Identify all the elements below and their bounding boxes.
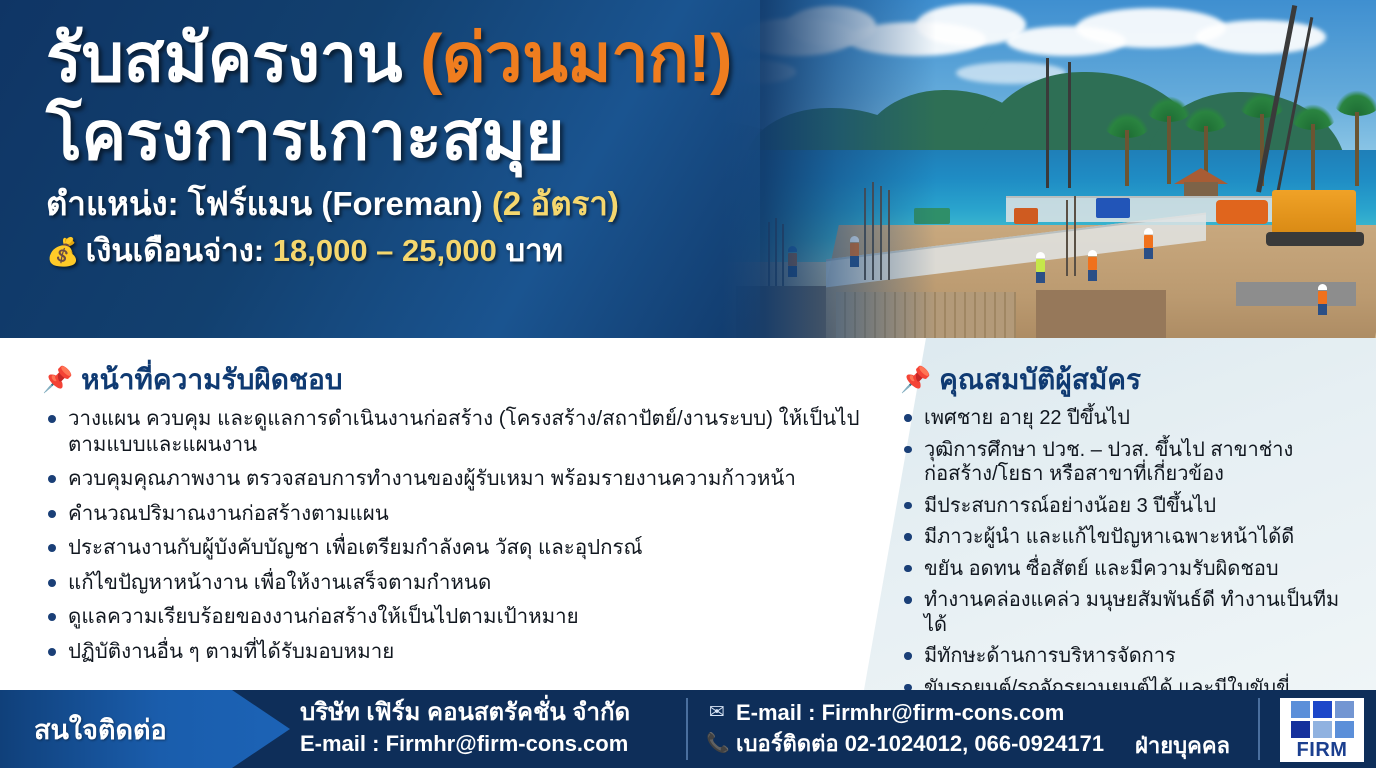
- poster-header: รับสมัครงาน (ด่วนมาก!) โครงการเกาะสมุย ต…: [0, 0, 1376, 338]
- site-vehicle: [1014, 208, 1038, 224]
- list-item: แก้ไขปัญหาหน้างาน เพื่อให้งานเสร็จตามกำห…: [42, 570, 872, 596]
- salary-label: เงินเดือนจ่าง:: [86, 233, 265, 268]
- crane-tracks: [1266, 232, 1364, 246]
- list-item: คำนวณปริมาณงานก่อสร้างตามแผน: [42, 501, 872, 527]
- phone-row[interactable]: 📞 เบอร์ติดต่อ 02-1024012, 066-0924171: [706, 728, 1104, 759]
- phone-text: เบอร์ติดต่อ 02-1024012, 066-0924171: [736, 728, 1104, 759]
- title-urgent-badge: (ด่วนมาก!): [420, 21, 732, 96]
- crane-body: [1272, 190, 1356, 234]
- poster-title-line-1: รับสมัครงาน (ด่วนมาก!): [46, 20, 866, 98]
- list-item: ดูแลความเรียบร้อยของงานก่อสร้างให้เป็นไป…: [42, 604, 872, 630]
- list-item: ประสานงานกับผู้บังคับบัญชา เพื่อเตรียมกำ…: [42, 535, 872, 561]
- logo-tile: [1335, 701, 1354, 718]
- cable: [1068, 62, 1071, 188]
- poster-title-line-2: โครงการเกาะสมุย: [46, 98, 866, 176]
- firm-logo: FIRM: [1280, 698, 1364, 762]
- salary-line: 💰เงินเดือนจ่าง: 18,000 – 25,000 บาท: [46, 230, 866, 273]
- logo-tile: [1291, 721, 1310, 738]
- footer-divider-2: [1258, 698, 1260, 760]
- qualifications-heading: 📌 คุณสมบัติผู้สมัคร: [900, 338, 1350, 406]
- title-main: รับสมัครงาน: [46, 21, 402, 96]
- email-row[interactable]: ✉ E-mail : Firmhr@firm-cons.com: [706, 697, 1104, 728]
- list-item: เพศชาย อายุ 22 ปีขึ้นไป: [900, 406, 1350, 431]
- contact-details: ✉ E-mail : Firmhr@firm-cons.com 📞 เบอร์ต…: [706, 697, 1104, 759]
- qualifications-column: 📌 คุณสมบัติผู้สมัคร เพศชาย อายุ 22 ปีขึ้…: [900, 338, 1350, 690]
- poster-footer: สนใจติดต่อ บริษัท เฟิร์ม คอนสตรัคชั่น จำ…: [0, 690, 1376, 768]
- salary-unit: บาท: [505, 233, 563, 268]
- pushpin-icon: 📌: [42, 368, 73, 393]
- list-item: มีภาวะผู้นำ และแก้ไขปัญหาเฉพาะหน้าได้ดี: [900, 525, 1350, 550]
- contact-cta-banner: สนใจติดต่อ: [0, 690, 290, 768]
- hr-department-label: ฝ่ายบุคคล: [1135, 728, 1230, 763]
- construction-worker: [1088, 250, 1097, 281]
- beach-hut: [1184, 182, 1218, 196]
- responsibilities-column: 📌 หน้าที่ความรับผิดชอบ วางแผน ควบคุม และ…: [42, 338, 872, 673]
- company-name: บริษัท เฟิร์ม คอนสตรัคชั่น จำกัด: [300, 697, 670, 729]
- formwork: [1036, 290, 1166, 338]
- list-item: ขับรถยนต์/รถจักรยานยนต์ได้ และมีใบขับขี่: [900, 676, 1350, 691]
- list-item: มีประสบการณ์อย่างน้อย 3 ปีขึ้นไป: [900, 494, 1350, 519]
- envelope-icon: ✉: [706, 697, 728, 728]
- logo-wordmark: FIRM: [1297, 740, 1348, 760]
- logo-tile: [1335, 721, 1354, 738]
- money-bag-icon: 💰: [46, 237, 80, 267]
- steel-stack: [1236, 282, 1356, 306]
- list-item: วางแผน ควบคุม และดูแลการดำเนินงานก่อสร้า…: [42, 406, 872, 457]
- company-email: E-mail : Firmhr@firm-cons.com: [300, 729, 670, 759]
- responsibilities-heading: 📌 หน้าที่ความรับผิดชอบ: [42, 338, 872, 406]
- list-item: ปฏิบัติงานอื่น ๆ ตามที่ได้รับมอบหมาย: [42, 639, 872, 665]
- email-text: E-mail : Firmhr@firm-cons.com: [736, 697, 1064, 728]
- contact-cta-text: สนใจติดต่อ: [0, 708, 167, 751]
- position-count: (2 อัตรา): [492, 185, 619, 222]
- site-vehicle: [1216, 200, 1268, 224]
- responsibilities-list: วางแผน ควบคุม และดูแลการดำเนินงานก่อสร้า…: [42, 406, 872, 664]
- pushpin-icon: 📌: [900, 368, 931, 393]
- logo-tiles: [1291, 701, 1354, 738]
- construction-worker: [1036, 252, 1045, 283]
- phone-icon: 📞: [706, 728, 728, 759]
- position-label: ตำแหน่ง: โฟร์แมน (Foreman): [46, 185, 483, 222]
- footer-divider: [686, 698, 688, 760]
- recruitment-poster: รับสมัครงาน (ด่วนมาก!) โครงการเกาะสมุย ต…: [0, 0, 1376, 768]
- qualifications-list: เพศชาย อายุ 22 ปีขึ้นไป วุฒิการศึกษา ปวช…: [900, 406, 1350, 690]
- logo-tile: [1313, 701, 1332, 718]
- construction-worker: [1144, 228, 1153, 259]
- site-vehicle: [1096, 198, 1130, 218]
- list-item: ทำงานคล่องแคล่ว มนุษยสัมพันธ์ดี ทำงานเป็…: [900, 588, 1350, 637]
- construction-worker: [1318, 284, 1327, 315]
- list-item: ขยัน อดทน ซื่อสัตย์ และมีความรับผิดชอบ: [900, 557, 1350, 582]
- list-item: ควบคุมคุณภาพงาน ตรวจสอบการทำงานของผู้รับ…: [42, 466, 872, 492]
- palm-tree: [1331, 90, 1376, 186]
- logo-tile: [1291, 701, 1310, 718]
- logo-tile: [1313, 721, 1332, 738]
- salary-amount: 18,000 – 25,000: [273, 233, 497, 268]
- company-block: บริษัท เฟิร์ม คอนสตรัคชั่น จำกัด E-mail …: [300, 697, 670, 759]
- header-text-block: รับสมัครงาน (ด่วนมาก!) โครงการเกาะสมุย ต…: [46, 20, 866, 273]
- poster-body: 📌 หน้าที่ความรับผิดชอบ วางแผน ควบคุม และ…: [0, 338, 1376, 690]
- list-item: วุฒิการศึกษา ปวช. – ปวส. ขึ้นไป สาขาช่าง…: [900, 438, 1350, 487]
- list-item: มีทักษะด้านการบริหารจัดการ: [900, 644, 1350, 669]
- responsibilities-heading-text: หน้าที่ความรับผิดชอบ: [81, 358, 342, 402]
- position-line: ตำแหน่ง: โฟร์แมน (Foreman) (2 อัตรา): [46, 182, 866, 226]
- qualifications-heading-text: คุณสมบัติผู้สมัคร: [939, 358, 1141, 402]
- cable: [1046, 58, 1049, 188]
